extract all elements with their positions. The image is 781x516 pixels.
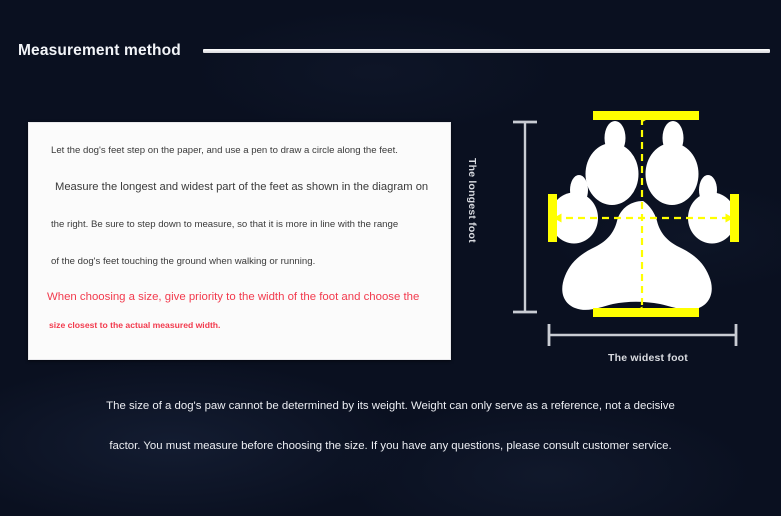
paw-measurement-diagram: The longest foot The widest foot bbox=[480, 90, 770, 370]
instruction-line-3: the right. Be sure to step down to measu… bbox=[51, 219, 436, 230]
footer-note: The size of a dog's paw cannot be determ… bbox=[0, 400, 781, 452]
paw-diagram-svg bbox=[480, 90, 770, 370]
section-header: Measurement method bbox=[0, 36, 781, 66]
toe-pad-inner-left bbox=[586, 143, 639, 205]
instruction-alert-line-1: When choosing a size, give priority to t… bbox=[47, 291, 436, 303]
instruction-line-2: Measure the longest and widest part of t… bbox=[55, 181, 436, 193]
footer-line-2: factor. You must measure before choosing… bbox=[0, 440, 781, 452]
instructions-card: Let the dog's feet step on the paper, an… bbox=[28, 122, 451, 360]
footer-line-1: The size of a dog's paw cannot be determ… bbox=[0, 400, 781, 412]
longest-foot-label: The longest foot bbox=[466, 158, 478, 243]
instruction-alert-line-2: size closest to the actual measured widt… bbox=[49, 320, 436, 330]
instruction-line-1: Let the dog's feet step on the paper, an… bbox=[51, 145, 436, 156]
yellow-bar-top bbox=[593, 111, 699, 120]
instruction-line-4: of the dog's feet touching the ground wh… bbox=[51, 256, 436, 267]
yellow-bar-right bbox=[730, 194, 739, 242]
longest-foot-bracket bbox=[513, 122, 537, 312]
page-title: Measurement method bbox=[18, 42, 181, 60]
widest-foot-label: The widest foot bbox=[608, 352, 688, 364]
header-divider-rule bbox=[203, 49, 770, 53]
widest-foot-bracket bbox=[549, 324, 736, 346]
yellow-bar-bottom bbox=[593, 308, 699, 317]
toe-pad-inner-right bbox=[646, 143, 699, 205]
